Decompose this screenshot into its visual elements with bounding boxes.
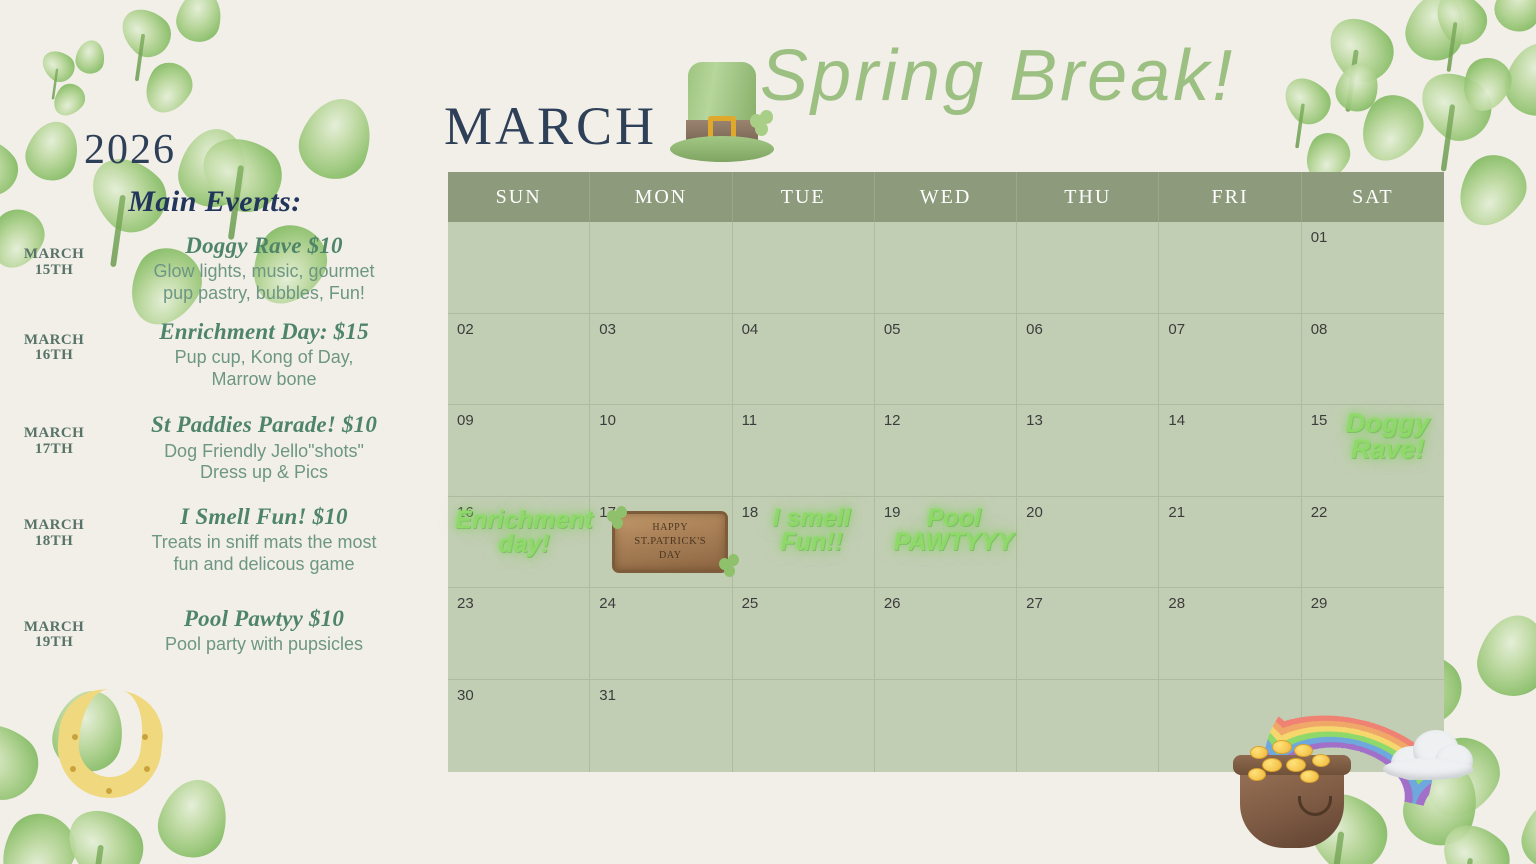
weekday-fri: FRI — [1159, 172, 1301, 222]
calendar-day-29[interactable]: 29 — [1302, 588, 1444, 679]
sign-text-line3: DAY — [659, 549, 682, 563]
day-number: 22 — [1311, 504, 1444, 521]
year-label: 2026 — [84, 126, 176, 174]
day-number: 24 — [599, 595, 731, 612]
event-name: I Smell Fun! $10 — [94, 504, 434, 530]
calendar-day-30[interactable]: 30 — [448, 680, 590, 772]
calendar-day-empty — [1302, 680, 1444, 772]
hat-brim — [670, 136, 774, 162]
calendar-day-05[interactable]: 05 — [875, 314, 1017, 405]
event-body: Doggy Rave $10 Glow lights, music, gourm… — [104, 233, 424, 305]
event-date: MARCH 15TH — [8, 247, 100, 279]
day-number: 02 — [457, 321, 589, 338]
hat-crown — [688, 62, 756, 138]
weekday-sat: SAT — [1302, 172, 1444, 222]
calendar-week-row: 23242526272829 — [448, 588, 1444, 680]
hat-band — [686, 120, 758, 140]
calendar-day-empty — [1159, 680, 1301, 772]
event-body: I Smell Fun! $10 Treats in sniff mats th… — [94, 504, 434, 576]
calendar-day-20[interactable]: 20 — [1017, 497, 1159, 588]
day-number: 10 — [599, 412, 731, 429]
clover-leaf — [1408, 58, 1504, 152]
clover-leaf — [172, 0, 227, 46]
clover-leaf — [136, 55, 199, 121]
event-name: Pool Pawtyy $10 — [94, 606, 434, 632]
calendar-day-empty — [875, 222, 1017, 313]
clover-leaf — [1455, 51, 1518, 118]
sign-text-line2: ST.PATRICK'S — [634, 535, 706, 549]
st-patricks-day-sign[interactable]: HAPPYST.PATRICK'SDAY — [612, 511, 728, 573]
calendar-day-10[interactable]: 10 — [590, 405, 732, 496]
calendar-day-17[interactable]: 17HAPPYST.PATRICK'SDAY — [590, 497, 732, 588]
sign-text-line1: HAPPY — [652, 521, 688, 535]
day-number: 28 — [1168, 595, 1300, 612]
calendar-day-15[interactable]: 15Doggy Rave! — [1302, 405, 1444, 496]
clover-leaf — [1317, 5, 1405, 93]
event-name: St Paddies Parade! $10 — [104, 412, 424, 438]
event-description: Treats in sniff mats the most fun and de… — [94, 532, 434, 575]
sign-clover-icon — [607, 506, 629, 528]
calendar-week-row: 09101112131415Doggy Rave! — [448, 405, 1444, 497]
horseshoe-nail — [142, 734, 148, 740]
day-number: 05 — [884, 321, 1016, 338]
day-number: 25 — [742, 595, 874, 612]
event-sticker-18[interactable]: I smell Fun!! — [751, 507, 873, 555]
calendar-weekday-header: SUN MON TUE WED THU FRI SAT — [448, 172, 1444, 222]
clover-stem — [1447, 22, 1458, 72]
calendar-day-31[interactable]: 31 — [590, 680, 732, 772]
clover-leaf — [36, 44, 80, 87]
calendar-day-02[interactable]: 02 — [448, 314, 590, 405]
calendar-week-row: 16Enrichment day!17HAPPYST.PATRICK'SDAY1… — [448, 497, 1444, 589]
calendar-day-25[interactable]: 25 — [733, 588, 875, 679]
calendar-day-08[interactable]: 08 — [1302, 314, 1444, 405]
weekday-thu: THU — [1017, 172, 1159, 222]
clover-leaf — [1430, 811, 1522, 864]
clover-leaf — [1330, 58, 1384, 117]
event-date: MARCH 16TH — [8, 333, 100, 365]
day-number: 03 — [599, 321, 731, 338]
event-sticker-15[interactable]: Doggy Rave! — [1332, 411, 1444, 462]
clover-leaf — [1399, 0, 1473, 67]
calendar-day-empty — [1017, 680, 1159, 772]
event-date: MARCH 18TH — [8, 518, 100, 550]
clover-leaf — [1426, 0, 1495, 53]
calendar-day-03[interactable]: 03 — [590, 314, 732, 405]
horseshoe-nail — [144, 766, 150, 772]
day-number: 31 — [599, 687, 731, 704]
calendar-day-07[interactable]: 07 — [1159, 314, 1301, 405]
horseshoe-icon — [58, 690, 168, 810]
weekday-wed: WED — [875, 172, 1017, 222]
event-name: Doggy Rave $10 — [104, 233, 424, 259]
clover-stem — [1295, 103, 1305, 148]
event-date: MARCH 17TH — [8, 426, 100, 458]
clover-leaf — [112, 0, 179, 66]
clover-stem — [1459, 858, 1473, 864]
clover-stem — [88, 845, 104, 864]
clover-leaf — [1499, 36, 1536, 122]
clover-leaf — [46, 684, 130, 778]
calendar-day-19[interactable]: 19Pool PAWTYYY — [875, 497, 1017, 588]
calendar-day-empty — [733, 222, 875, 313]
calendar-day-empty — [1159, 222, 1301, 313]
calendar-day-28[interactable]: 28 — [1159, 588, 1301, 679]
calendar-weeks: 010203040506070809101112131415Doggy Rave… — [448, 222, 1444, 772]
hat-buckle — [708, 116, 736, 143]
event-description: Pup cup, Kong of Day, Marrow bone — [104, 347, 424, 390]
calendar-day-empty — [733, 680, 875, 772]
event-description: Pool party with pupsicles — [94, 634, 434, 656]
calendar-day-01[interactable]: 01 — [1302, 222, 1444, 313]
clover-leaf — [73, 38, 107, 76]
day-number: 27 — [1026, 595, 1158, 612]
calendar-day-empty — [1017, 222, 1159, 313]
event-item[interactable]: MARCH 19TH Pool Pawtyy $10 Pool party wi… — [0, 606, 430, 656]
calendar-day-24[interactable]: 24 — [590, 588, 732, 679]
page-title: MARCH — [444, 95, 657, 157]
day-number: 26 — [884, 595, 1016, 612]
clover-leaf — [151, 772, 237, 864]
horseshoe-nail — [72, 734, 78, 740]
calendar-grid: SUN MON TUE WED THU FRI SAT 010203040506… — [448, 172, 1444, 772]
calendar-day-empty — [875, 680, 1017, 772]
horseshoe-arc — [53, 685, 168, 803]
day-number: 06 — [1026, 321, 1158, 338]
calendar-day-09[interactable]: 09 — [448, 405, 590, 496]
event-date: MARCH 19TH — [8, 620, 100, 652]
clover-stem — [135, 34, 145, 82]
calendar-day-04[interactable]: 04 — [733, 314, 875, 405]
pot-handle — [1298, 796, 1332, 816]
event-body: St Paddies Parade! $10 Dog Friendly Jell… — [104, 412, 424, 484]
clover-leaf — [1515, 792, 1536, 864]
day-number: 07 — [1168, 321, 1300, 338]
calendar-day-22[interactable]: 22 — [1302, 497, 1444, 588]
calendar-day-11[interactable]: 11 — [733, 405, 875, 496]
calendar-day-27[interactable]: 27 — [1017, 588, 1159, 679]
calendar-day-06[interactable]: 06 — [1017, 314, 1159, 405]
calendar-week-row: 3031 — [448, 680, 1444, 772]
day-number: 13 — [1026, 412, 1158, 429]
event-sticker-16[interactable]: Enrichment day! — [450, 509, 598, 557]
calendar-day-16[interactable]: 16Enrichment day! — [448, 497, 590, 588]
clover-leaf — [1291, 776, 1401, 864]
event-item[interactable]: MARCH 16TH Enrichment Day: $15 Pup cup, … — [0, 319, 430, 391]
clover-leaf — [0, 802, 88, 864]
calendar-day-26[interactable]: 26 — [875, 588, 1017, 679]
horseshoe-nail — [70, 766, 76, 772]
calendar-day-18[interactable]: 18I smell Fun!! — [733, 497, 875, 588]
event-description: Dog Friendly Jello"shots" Dress up & Pic… — [104, 441, 424, 484]
calendar-day-empty — [448, 222, 590, 313]
clover-leaf — [1275, 69, 1338, 133]
clover-leaf — [0, 708, 52, 813]
day-number: 12 — [884, 412, 1016, 429]
calendar-day-21[interactable]: 21 — [1159, 497, 1301, 588]
main-events-panel: Main Events: MARCH 15TH Doggy Rave $10 G… — [0, 185, 430, 670]
clover-leaf — [47, 78, 90, 122]
day-number: 08 — [1311, 321, 1444, 338]
calendar-day-13[interactable]: 13 — [1017, 405, 1159, 496]
day-number: 04 — [742, 321, 874, 338]
event-body: Pool Pawtyy $10 Pool party with pupsicle… — [94, 606, 434, 656]
day-number: 29 — [1311, 595, 1444, 612]
clover-leaf — [1446, 144, 1536, 239]
headline-spring-break: Spring Break! — [760, 35, 1235, 117]
day-number: 14 — [1168, 412, 1300, 429]
day-number: 23 — [457, 595, 589, 612]
event-item[interactable]: MARCH 17TH St Paddies Parade! $10 Dog Fr… — [0, 412, 430, 484]
clover-leaf — [290, 89, 383, 189]
clover-leaf — [54, 794, 157, 864]
event-name: Enrichment Day: $15 — [104, 319, 424, 345]
day-number: 21 — [1168, 504, 1300, 521]
clover-stem — [1328, 831, 1345, 864]
main-events-title: Main Events: — [0, 185, 430, 219]
day-number: 11 — [742, 412, 874, 429]
calendar-week-row: 01 — [448, 222, 1444, 314]
pot-icon — [1240, 762, 1344, 848]
weekday-tue: TUE — [733, 172, 875, 222]
day-number: 20 — [1026, 504, 1158, 521]
day-number: 01 — [1311, 229, 1444, 246]
clover-leaf — [1350, 85, 1434, 172]
calendar-day-12[interactable]: 12 — [875, 405, 1017, 496]
calendar-day-14[interactable]: 14 — [1159, 405, 1301, 496]
clover-stem — [1441, 104, 1456, 172]
day-number: 09 — [457, 412, 589, 429]
calendar-week-row: 02030405060708 — [448, 314, 1444, 406]
horseshoe-nail — [106, 788, 112, 794]
clover-stem — [1345, 49, 1359, 112]
calendar-day-23[interactable]: 23 — [448, 588, 590, 679]
weekday-sun: SUN — [448, 172, 590, 222]
event-description: Glow lights, music, gourmet pup pastry, … — [104, 261, 424, 304]
clover-leaf — [1470, 608, 1536, 703]
event-item[interactable]: MARCH 18TH I Smell Fun! $10 Treats in sn… — [0, 504, 430, 576]
weekday-mon: MON — [590, 172, 732, 222]
clover-leaf — [1488, 0, 1536, 38]
event-sticker-19[interactable]: Pool PAWTYYY — [893, 507, 1015, 555]
calendar-day-empty — [590, 222, 732, 313]
day-number: 30 — [457, 687, 589, 704]
clover-leaf — [19, 115, 85, 187]
clover-stem — [52, 68, 59, 99]
event-body: Enrichment Day: $15 Pup cup, Kong of Day… — [104, 319, 424, 391]
event-item[interactable]: MARCH 15TH Doggy Rave $10 Glow lights, m… — [0, 233, 430, 305]
